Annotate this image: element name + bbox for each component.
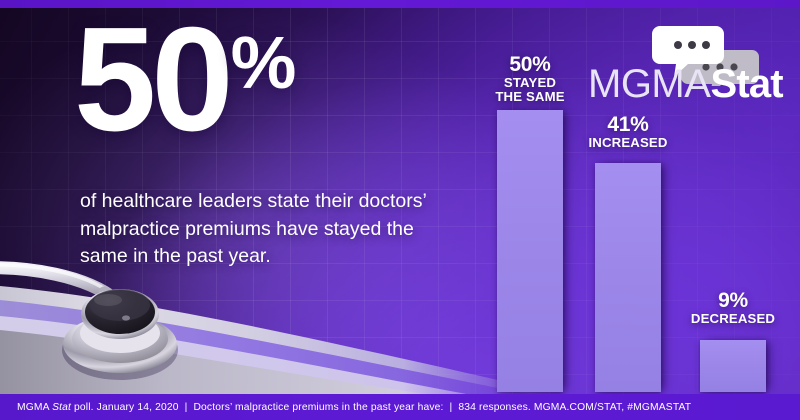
bar-label-stayed-the-same: 50% STAYED THE SAME [470,54,590,104]
bar-stayed-the-same [497,110,563,392]
footer-separator-1: | [179,402,194,413]
bar-increased [595,163,661,392]
mgma-stat-logo: MGMAStat [588,26,784,106]
footer-bar: MGMA Stat poll. January 14, 2020|Doctors… [0,394,800,420]
footer-source-italic: Stat [52,402,71,413]
bar-value-decreased: 9% [673,290,793,312]
footer-responses: 834 responses. MGMA.COM/STAT, #MGMASTAT [458,402,691,413]
logo-brand-text: MGMA [588,62,710,106]
bar-label-increased: 41% INCREASED [568,114,688,150]
footer-source-suffix: poll. January 14, 2020 [71,402,179,413]
logo-wordmark: MGMAStat [588,64,783,104]
footer-question: Doctors’ malpractice premiums in the pas… [193,402,443,413]
headline-body-text: of healthcare leaders state their doctor… [80,188,452,271]
infographic-canvas: 50 % of healthcare leaders state their d… [0,0,800,420]
bar-value-stayed-the-same: 50% [470,54,590,76]
footer-source-prefix: MGMA [17,402,52,413]
footer-source-line: MGMA Stat poll. January 14, 2020|Doctors… [0,402,691,413]
headline-stat: 50 % [74,18,294,142]
bar-category-increased: INCREASED [568,136,688,150]
headline-number: 50 [74,18,229,142]
headline-percent-sign: % [231,26,295,100]
logo-product-text: Stat [710,62,782,106]
bar-category-decreased: DECREASED [673,312,793,326]
bar-value-increased: 41% [568,114,688,136]
bar-decreased [700,340,766,392]
bar-category-stayed-line2: THE SAME [470,90,590,104]
footer-separator-2: | [444,402,459,413]
bar-label-decreased: 9% DECREASED [673,290,793,326]
